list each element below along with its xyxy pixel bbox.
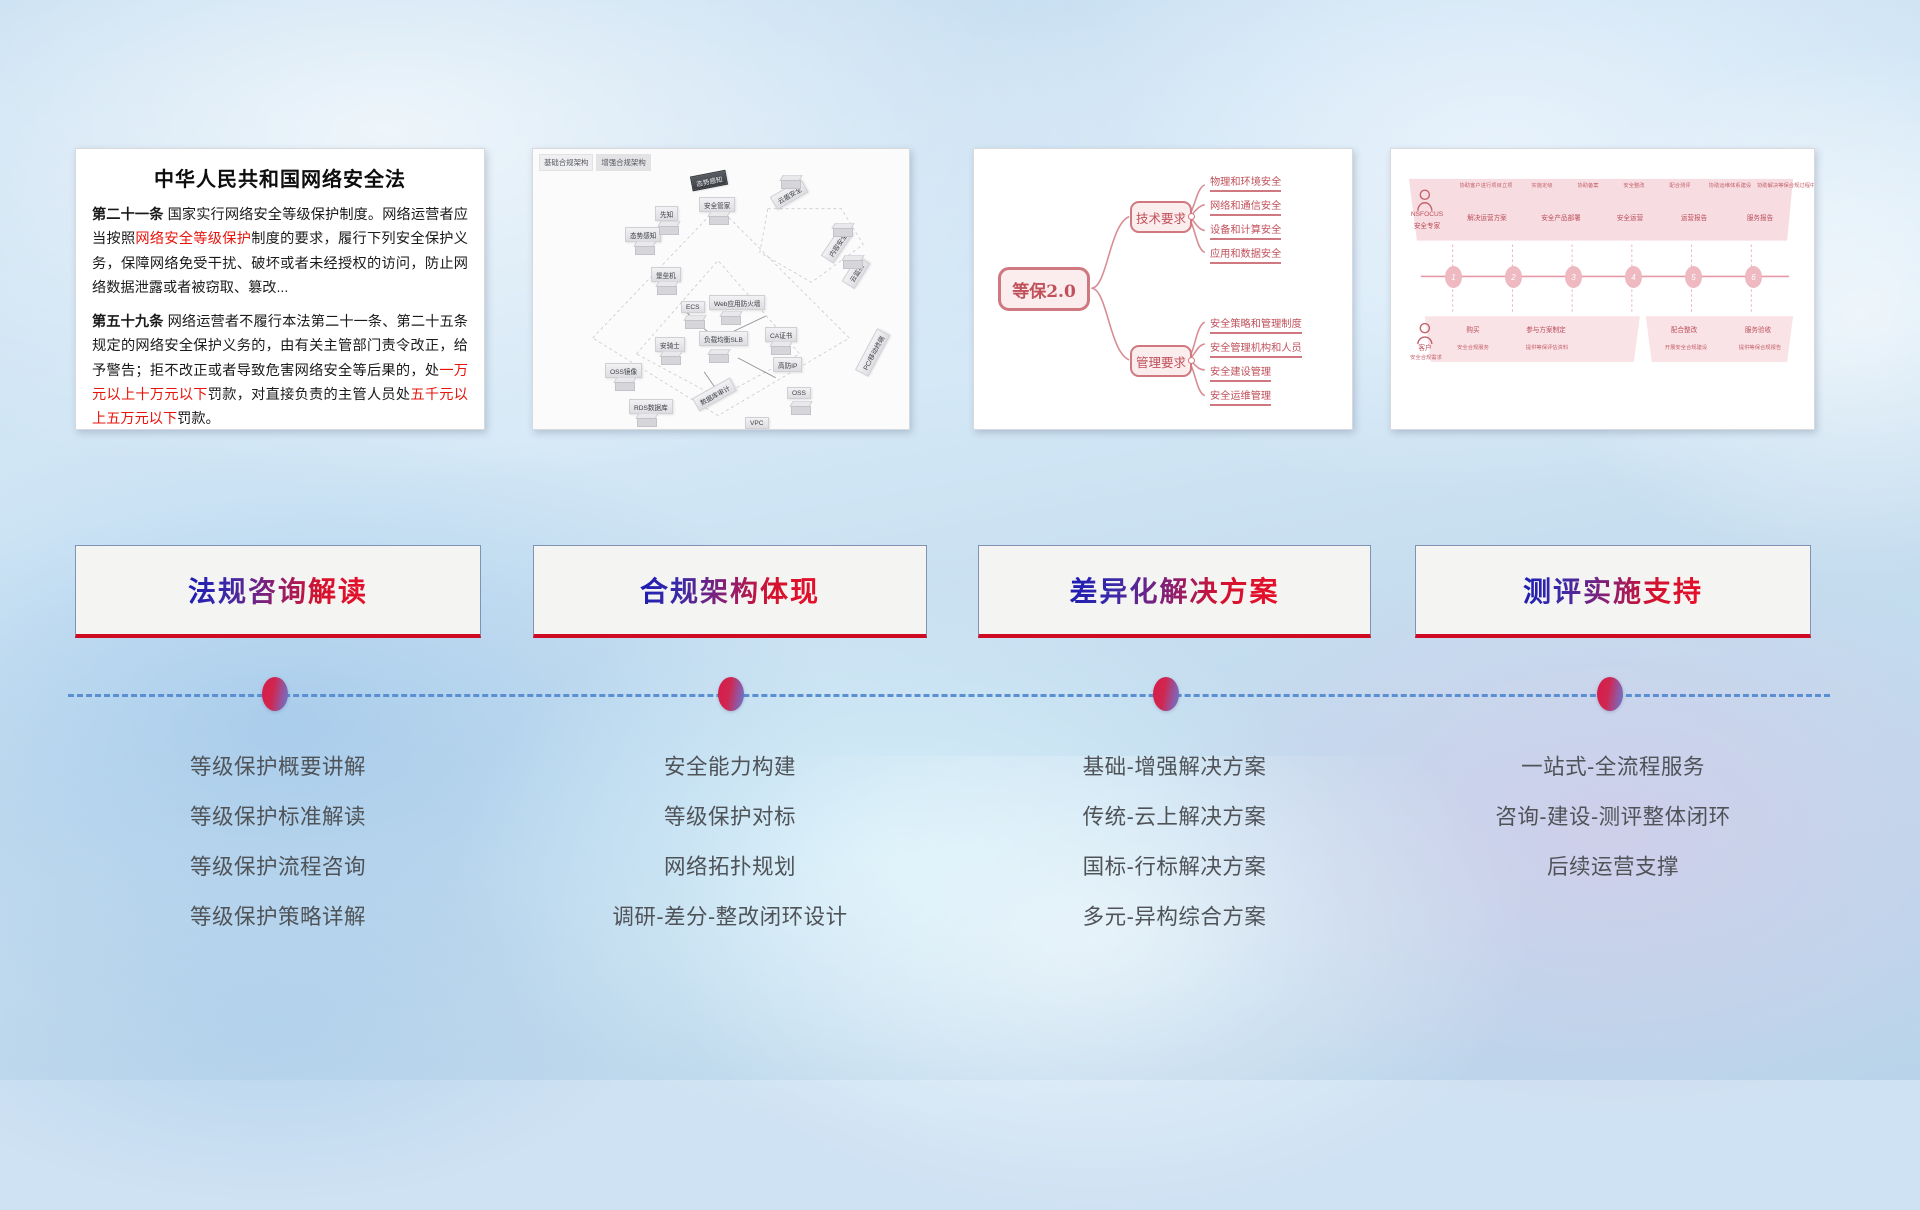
nsfocus-client-task-3-title: 配合整改 xyxy=(1659,327,1709,335)
heading-box-differentiated-solution[interactable]: 差异化解决方案 xyxy=(978,545,1371,638)
timeline-marker-4 xyxy=(1597,677,1623,711)
nsfocus-client-task-3-sub: 开展安全合规建设 xyxy=(1653,345,1719,352)
mindmap-branch-management[interactable]: 管理要求 xyxy=(1130,345,1192,377)
card-cybersecurity-law[interactable]: 中华人民共和国网络安全法 第二十一条 国家实行网络安全等级保护制度。网络运营者应… xyxy=(75,148,485,430)
list-item: 等级保护流程咨询 xyxy=(75,842,481,892)
card-compliance-architecture[interactable]: 基础合规架构 增强合规架构 态势感知 先知 安全管家 xyxy=(532,148,910,430)
nsfocus-row2-3: 安全运营 xyxy=(1605,215,1655,223)
card-nsfocus-process[interactable]: NSFOCUS 安全专家 协助客户进行项目立项 实施定级 协助备案 安全整改 配… xyxy=(1390,148,1815,430)
nsfocus-client-task-2-sub: 提供等保评估资料 xyxy=(1509,345,1585,352)
law-article-21-label: 第二十一条 xyxy=(92,207,164,223)
list-item: 传统-云上解决方案 xyxy=(978,792,1371,842)
list-item: 等级保护策略详解 xyxy=(75,892,481,942)
architecture-node-ecs: ECS xyxy=(681,301,705,313)
nsfocus-task-4: 安全整改 xyxy=(1613,183,1655,190)
law-text-body: 中华人民共和国网络安全法 第二十一条 国家实行网络安全等级保护制度。网络运营者应… xyxy=(76,149,484,430)
nsfocus-client-task-1-sub: 安全合规服务 xyxy=(1449,345,1497,352)
nsfocus-task-5: 配合测评 xyxy=(1659,183,1701,190)
heading-label-differentiated-solution: 差异化解决方案 xyxy=(1069,570,1279,610)
timeline-marker-2 xyxy=(718,677,744,711)
law-article-59-label: 第五十九条 xyxy=(92,314,164,330)
nsfocus-task-3: 协助备案 xyxy=(1567,183,1609,190)
mindmap-leaf-operations: 安全运维管理 xyxy=(1210,387,1271,406)
list-item: 网络拓扑规划 xyxy=(533,842,927,892)
architecture-node-slb: 负载均衡SLB xyxy=(699,331,748,346)
list-item: 后续运营支撑 xyxy=(1415,842,1811,892)
mindmap-toggle-technical[interactable] xyxy=(1188,213,1195,220)
mindmap-leaf-device: 设备和计算安全 xyxy=(1210,221,1281,240)
mindmap-root-node[interactable]: 等保2.0 xyxy=(998,267,1090,311)
nsfocus-step-2: 2 xyxy=(1505,266,1522,288)
mindmap-leaf-construction: 安全建设管理 xyxy=(1210,363,1271,382)
list-item: 国标-行标解决方案 xyxy=(978,842,1371,892)
timeline-dashed-line xyxy=(68,694,1830,697)
law-article-59-part3: 罚款。 xyxy=(177,411,220,427)
law-article-59-part2: 罚款，对直接负责的主管人员处 xyxy=(208,387,411,403)
nsfocus-shapes xyxy=(1391,149,1814,430)
architecture-node-anti-ddos: 高防IP xyxy=(773,357,802,372)
list-item: 一站式-全流程服务 xyxy=(1415,742,1811,792)
architecture-node-vpc: VPC xyxy=(745,417,769,429)
thumbnail-row: 中华人民共和国网络安全法 第二十一条 国家实行网络安全等级保护制度。网络运营者应… xyxy=(0,148,1920,438)
mindmap-leaf-physical: 物理和环境安全 xyxy=(1210,173,1281,192)
nsfocus-client-task-4-sub: 提供等保合规报告 xyxy=(1727,345,1793,352)
heading-box-assessment-support[interactable]: 测评实施支持 xyxy=(1415,545,1811,638)
column-differentiated-solution: 基础-增强解决方案 传统-云上解决方案 国标-行标解决方案 多元-异构综合方案 xyxy=(978,742,1371,942)
law-article-59: 第五十九条 网络运营者不履行本法第二十一条、第二十五条规定的网络安全保护义务的，… xyxy=(92,310,468,430)
nsfocus-row2-4: 运营报告 xyxy=(1669,215,1719,223)
nsfocus-client-task-1-title: 购买 xyxy=(1451,327,1495,335)
list-item: 安全能力构建 xyxy=(533,742,927,792)
nsfocus-process-diagram: NSFOCUS 安全专家 协助客户进行项目立项 实施定级 协助备案 安全整改 配… xyxy=(1391,149,1814,429)
nsfocus-expert-role: 安全专家 xyxy=(1405,223,1449,231)
law-title: 中华人民共和国网络安全法 xyxy=(92,163,468,192)
heading-box-regulation-consulting[interactable]: 法规咨询解读 xyxy=(75,545,481,638)
architecture-node-waf: Web应用防火墙 xyxy=(709,295,765,310)
heading-label-regulation-consulting: 法规咨询解读 xyxy=(188,570,368,610)
law-article-21: 第二十一条 国家实行网络安全等级保护制度。网络运营者应当按照网络安全等级保护制度… xyxy=(92,203,468,301)
nsfocus-client-task-2-title: 参与方案制定 xyxy=(1511,327,1581,335)
nsfocus-step-5: 5 xyxy=(1685,266,1702,288)
architecture-diagram: 基础合规架构 增强合规架构 态势感知 先知 安全管家 xyxy=(533,149,909,429)
nsfocus-step-6: 6 xyxy=(1745,266,1762,288)
nsfocus-row2-2: 安全产品部署 xyxy=(1531,215,1591,223)
list-item: 等级保护标准解读 xyxy=(75,792,481,842)
list-item: 咨询-建设-测评整体闭环 xyxy=(1415,792,1811,842)
architecture-node-oss: OSS xyxy=(787,387,811,399)
timeline-marker-1 xyxy=(262,677,288,711)
nsfocus-task-2: 实施定级 xyxy=(1521,183,1563,190)
nsfocus-step-4: 4 xyxy=(1625,266,1642,288)
list-item: 调研-差分-整改闭环设计 xyxy=(533,892,927,942)
column-compliance-architecture: 安全能力构建 等级保护对标 网络拓扑规划 调研-差分-整改闭环设计 xyxy=(533,742,927,942)
list-item: 等级保护对标 xyxy=(533,792,927,842)
mindmap-leaf-policy: 安全策略和管理制度 xyxy=(1210,315,1302,334)
list-item: 等级保护概要讲解 xyxy=(75,742,481,792)
mindmap-branch-technical[interactable]: 技术要求 xyxy=(1130,201,1192,233)
list-item: 多元-异构综合方案 xyxy=(978,892,1371,942)
mindmap-leaf-network: 网络和通信安全 xyxy=(1210,197,1281,216)
nsfocus-step-3: 3 xyxy=(1565,266,1582,288)
nsfocus-row2-5: 服务报告 xyxy=(1735,215,1785,223)
column-assessment-support: 一站式-全流程服务 咨询-建设-测评整体闭环 后续运营支撑 xyxy=(1415,742,1811,892)
mindmap-leaf-application: 应用和数据安全 xyxy=(1210,245,1281,264)
nsfocus-task-1: 协助客户进行项目立项 xyxy=(1457,183,1515,190)
nsfocus-step-1: 1 xyxy=(1445,266,1462,288)
nsfocus-brand-label: NSFOCUS xyxy=(1405,211,1449,219)
column-regulation-consulting: 等级保护概要讲解 等级保护标准解读 等级保护流程咨询 等级保护策略详解 xyxy=(75,742,481,942)
law-article-21-highlight: 网络安全等级保护 xyxy=(135,231,251,247)
nsfocus-client-sub: 安全合规需求 xyxy=(1403,355,1449,362)
nsfocus-task-7: 协助解决等保合规过程中的所有问题 xyxy=(1757,183,1809,190)
card-dengbao-mindmap[interactable]: 等保2.0 技术要求 管理要求 物理和环境安全 网络和通信安全 设备和计算安全 … xyxy=(973,148,1353,430)
mindmap-leaf-org: 安全管理机构和人员 xyxy=(1210,339,1302,358)
mindmap-toggle-management[interactable] xyxy=(1188,357,1195,364)
nsfocus-row2-1: 解决运营方案 xyxy=(1457,215,1517,223)
nsfocus-client-label: 客户 xyxy=(1405,345,1445,353)
nsfocus-client-task-4-title: 服务验收 xyxy=(1733,327,1783,335)
heading-label-compliance-architecture: 合规架构体现 xyxy=(640,570,820,610)
list-item: 基础-增强解决方案 xyxy=(978,742,1371,792)
heading-label-assessment-support: 测评实施支持 xyxy=(1523,570,1703,610)
timeline-marker-3 xyxy=(1153,677,1179,711)
mindmap-diagram: 等保2.0 技术要求 管理要求 物理和环境安全 网络和通信安全 设备和计算安全 … xyxy=(974,149,1352,429)
nsfocus-task-6: 协助运维体系建设 xyxy=(1703,183,1757,190)
heading-box-compliance-architecture[interactable]: 合规架构体现 xyxy=(533,545,927,638)
